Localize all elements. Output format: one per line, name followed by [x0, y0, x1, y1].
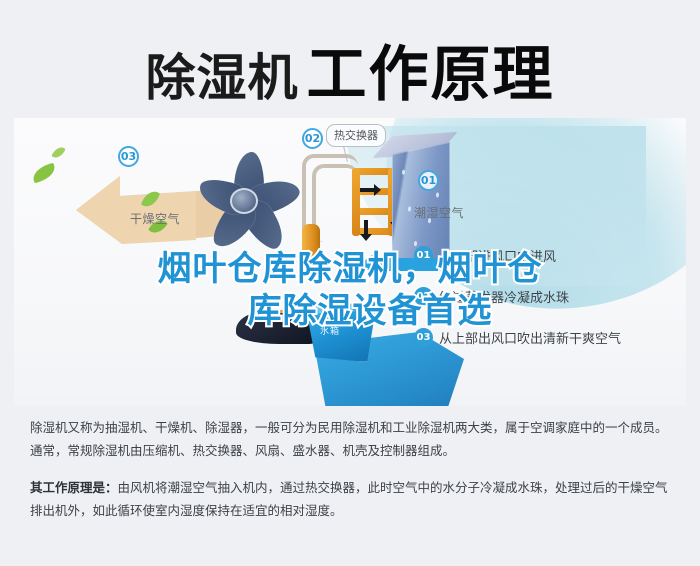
fan-icon: [186, 146, 306, 256]
overlay-headline-line1: 烟叶仓库除湿机，烟叶仓: [0, 248, 700, 290]
paragraph-1: 除湿机又称为抽湿机、干燥机、除湿器，一般可分为民用除湿机和工业除湿机两大类，属于…: [30, 416, 674, 462]
paragraph-2-lead: 其工作原理是：: [30, 480, 118, 495]
page-root: 除湿机工作原理: [0, 0, 700, 566]
leaf-icon: [30, 163, 57, 184]
diagram-badge-02: 02: [302, 128, 323, 149]
paragraph-2-text: 由风机将潮湿空气抽入机内，通过热交换器，此时空气中的水分子冷凝成水珠，处理过后的…: [30, 480, 668, 518]
diagram-badge-03: 03: [118, 146, 139, 167]
body-copy: 除湿机又称为抽湿机、干燥机、除湿器，一般可分为民用除湿机和工业除湿机两大类，属于…: [30, 416, 674, 536]
overlay-headline: 烟叶仓库除湿机，烟叶仓 库除湿设备首选: [0, 248, 700, 332]
page-title: 除湿机工作原理: [0, 26, 700, 113]
page-title-part2: 工作原理: [307, 40, 555, 110]
fan-hub-icon: [230, 188, 258, 214]
callout-heat-exchanger: 热交换器: [326, 124, 386, 147]
page-title-part1: 除湿机: [146, 49, 299, 107]
diagram-badge-01: 01: [418, 170, 439, 191]
paragraph-2: 其工作原理是：由风机将潮湿空气抽入机内，通过热交换器，此时空气中的水分子冷凝成水…: [30, 476, 674, 522]
overlay-headline-line2: 库除湿设备首选: [0, 290, 700, 332]
leaf-icon: [51, 145, 65, 161]
caption-dry-air: 干燥空气: [130, 210, 180, 227]
caption-humid-air: 潮湿空气: [414, 204, 464, 221]
